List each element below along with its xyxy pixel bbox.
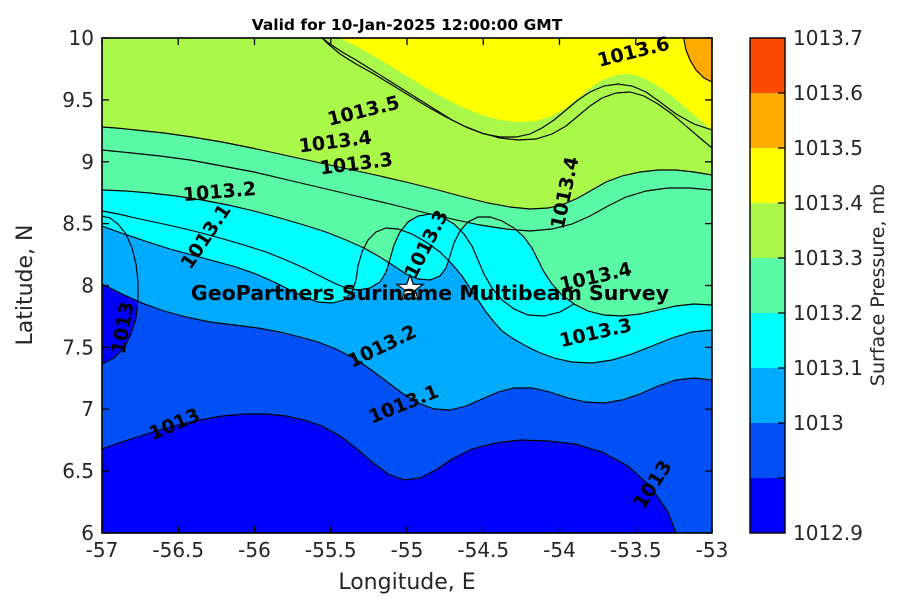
y-tick-label: 6.5	[62, 459, 94, 483]
site-label: GeoPartners Suriname Multibeam Survey	[191, 281, 669, 305]
x-tick-label: -54	[543, 538, 576, 562]
figure-root: 1013.6 1013.5 1013.4 1013.3 1013.4 1013.…	[0, 0, 900, 600]
colorbar-swatch	[750, 38, 785, 93]
y-tick-label: 6	[81, 521, 94, 545]
x-tick-label: -53	[696, 538, 729, 562]
colorbar-tick-label: 1012.9	[793, 521, 863, 545]
y-tick-label: 9.5	[62, 88, 94, 112]
colorbar-title: Surface Pressure, mb	[867, 184, 889, 386]
x-tick-label: -56	[238, 538, 271, 562]
x-tick-label: -55	[391, 538, 424, 562]
colorbar-tick-label: 1013.5	[793, 136, 863, 160]
colorbar-swatch	[750, 313, 785, 368]
colorbar-tick-label: 1013.1	[793, 356, 863, 380]
x-tick-label: -54.5	[457, 538, 509, 562]
colorbar-swatch	[750, 93, 785, 148]
colorbar-tick-label: 1013.3	[793, 246, 863, 270]
contour-figure: 1013.6 1013.5 1013.4 1013.3 1013.4 1013.…	[0, 0, 900, 600]
y-axis-title: Latitude, N	[13, 225, 38, 346]
y-tick-label: 9	[81, 150, 94, 174]
figure-title: Valid for 10-Jan-2025 12:00:00 GMT	[252, 16, 563, 34]
x-axis-title: Longitude, E	[338, 570, 475, 595]
colorbar-tick-label: 1013.4	[793, 191, 863, 215]
y-tick-label: 10	[69, 26, 94, 50]
colorbar-swatch	[750, 423, 785, 478]
colorbar-tick-label: 1013.6	[793, 81, 863, 105]
y-tick-label: 8	[81, 274, 94, 298]
x-tick-label: -55.5	[305, 538, 357, 562]
y-tick-label: 7	[81, 397, 94, 421]
colorbar-tick-label: 1013.2	[793, 301, 863, 325]
x-tick-label: -53.5	[610, 538, 662, 562]
y-tick-label: 7.5	[62, 335, 94, 359]
x-tick-labels: -57 -56.5 -56 -55.5 -55 -54.5 -54 -53.5 …	[86, 538, 729, 562]
colorbar-tick-label: 1013.7	[793, 26, 863, 50]
colorbar-swatch	[750, 148, 785, 203]
y-tick-label: 8.5	[62, 212, 94, 236]
colorbar-swatch	[750, 478, 785, 533]
colorbar-tick-label: 1013	[793, 411, 844, 435]
colorbar-swatch	[750, 258, 785, 313]
colorbar-swatch	[750, 368, 785, 423]
colorbar-swatch	[750, 203, 785, 258]
x-tick-label: -56.5	[152, 538, 204, 562]
